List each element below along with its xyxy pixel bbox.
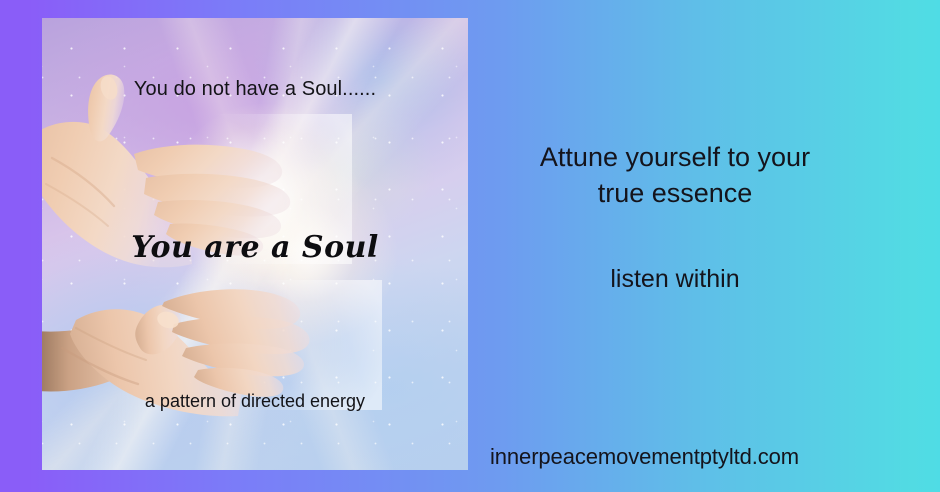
- panel-subline: listen within: [490, 265, 860, 294]
- card-middle-text: You are a Soul: [42, 230, 468, 265]
- website-url[interactable]: innerpeacemovementptyltd.com: [490, 444, 890, 470]
- panel-headline-line-1: Attune yourself to your: [490, 140, 860, 176]
- panel-headline: Attune yourself to your true essence: [490, 140, 860, 211]
- promo-image-card: You do not have a Soul...... You are a S…: [42, 18, 468, 470]
- card-top-text: You do not have a Soul......: [42, 78, 468, 101]
- promo-banner: You do not have a Soul...... You are a S…: [0, 0, 940, 492]
- panel-headline-line-2: true essence: [490, 176, 860, 212]
- card-bottom-text: a pattern of directed energy: [42, 391, 468, 412]
